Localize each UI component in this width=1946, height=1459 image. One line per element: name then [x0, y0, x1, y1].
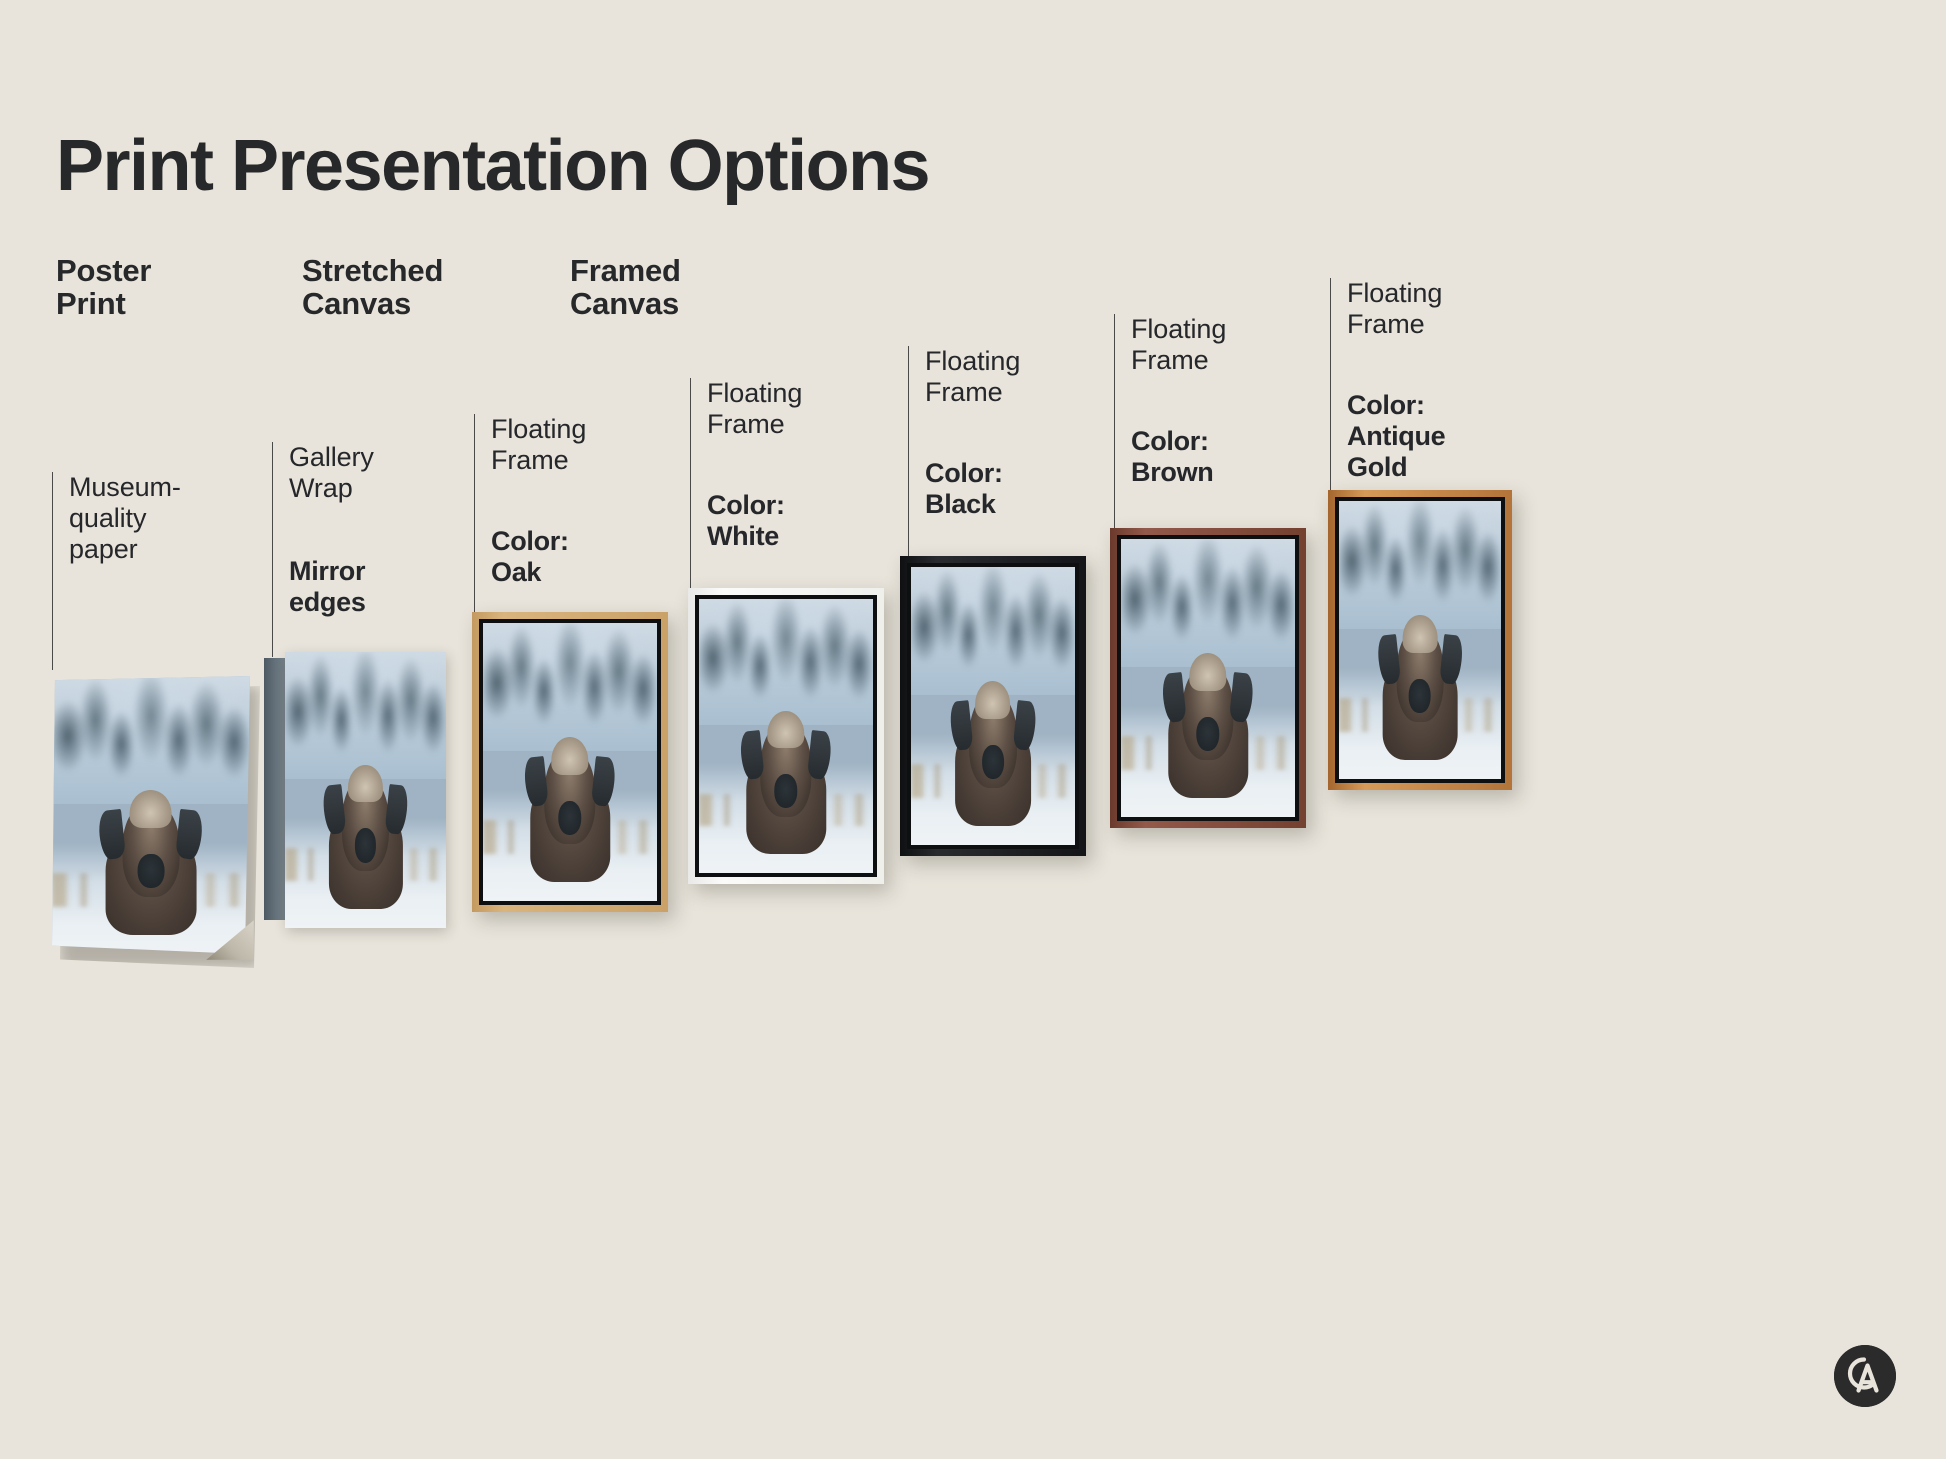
- callout-type-label-brown: Floating Frame: [1131, 314, 1226, 376]
- canvas-face: [699, 599, 873, 873]
- callout-rule: [272, 442, 273, 657]
- callout-rule: [52, 472, 53, 670]
- canvas-wrapped-edge: [264, 658, 286, 920]
- callout-type-label-gold: Floating Frame: [1347, 278, 1442, 340]
- callout-detail-label-brown: Color: Brown: [1131, 426, 1214, 488]
- product-framed-canvas-oak[interactable]: [472, 612, 668, 912]
- product-framed-canvas-brown[interactable]: [1110, 528, 1306, 828]
- artwork-bison-figure: [96, 790, 207, 935]
- category-heading-framed-canvas: Framed Canvas: [570, 255, 681, 321]
- canvas-face: [1121, 539, 1295, 817]
- callout-type-label-white: Floating Frame: [707, 378, 802, 440]
- product-framed-canvas-antique-gold[interactable]: [1328, 490, 1512, 790]
- artwork-bison: [285, 652, 446, 928]
- callout-detail-label-oak: Color: Oak: [491, 526, 569, 588]
- callout-type-label-poster: Museum- quality paper: [69, 472, 181, 564]
- page-title: Print Presentation Options: [56, 130, 929, 202]
- product-stretched-canvas[interactable]: [264, 652, 446, 928]
- category-heading-stretched-canvas: Stretched Canvas: [302, 255, 443, 321]
- callout-type-label-oak: Floating Frame: [491, 414, 586, 476]
- category-heading-poster-print: Poster Print: [56, 255, 151, 321]
- canvas-face: [1339, 501, 1501, 779]
- callout-detail-label-gold: Color: Antique Gold: [1347, 390, 1445, 482]
- product-framed-canvas-black[interactable]: [900, 556, 1086, 856]
- artwork-bison: [1339, 501, 1501, 779]
- artwork-bison: [699, 599, 873, 873]
- callout-rule: [908, 346, 909, 558]
- callout-type-label-stretched: Gallery Wrap: [289, 442, 374, 504]
- poster-canvas: Print Presentation Options Poster Print …: [0, 0, 1946, 1459]
- product-framed-canvas-white[interactable]: [688, 588, 884, 884]
- canvas-face: [483, 623, 657, 901]
- callout-rule: [474, 414, 475, 614]
- artwork-bison: [1121, 539, 1295, 817]
- product-poster-print[interactable]: [52, 676, 252, 958]
- callout-detail-label-stretched: Mirror edges: [289, 556, 366, 618]
- canvas-face: [285, 652, 446, 928]
- callout-type-label-black: Floating Frame: [925, 346, 1020, 408]
- callout-rule: [690, 378, 691, 590]
- artwork-bison: [911, 567, 1075, 845]
- artwork-bison: [483, 623, 657, 901]
- callout-detail-label-white: Color: White: [707, 490, 785, 552]
- callout-detail-label-black: Color: Black: [925, 458, 1003, 520]
- callout-rule: [1330, 278, 1331, 492]
- ca-monogram-logo: [1834, 1345, 1896, 1407]
- callout-rule: [1114, 314, 1115, 530]
- artwork-bison: [52, 676, 250, 954]
- poster-sheet: [52, 676, 250, 954]
- canvas-face: [911, 567, 1075, 845]
